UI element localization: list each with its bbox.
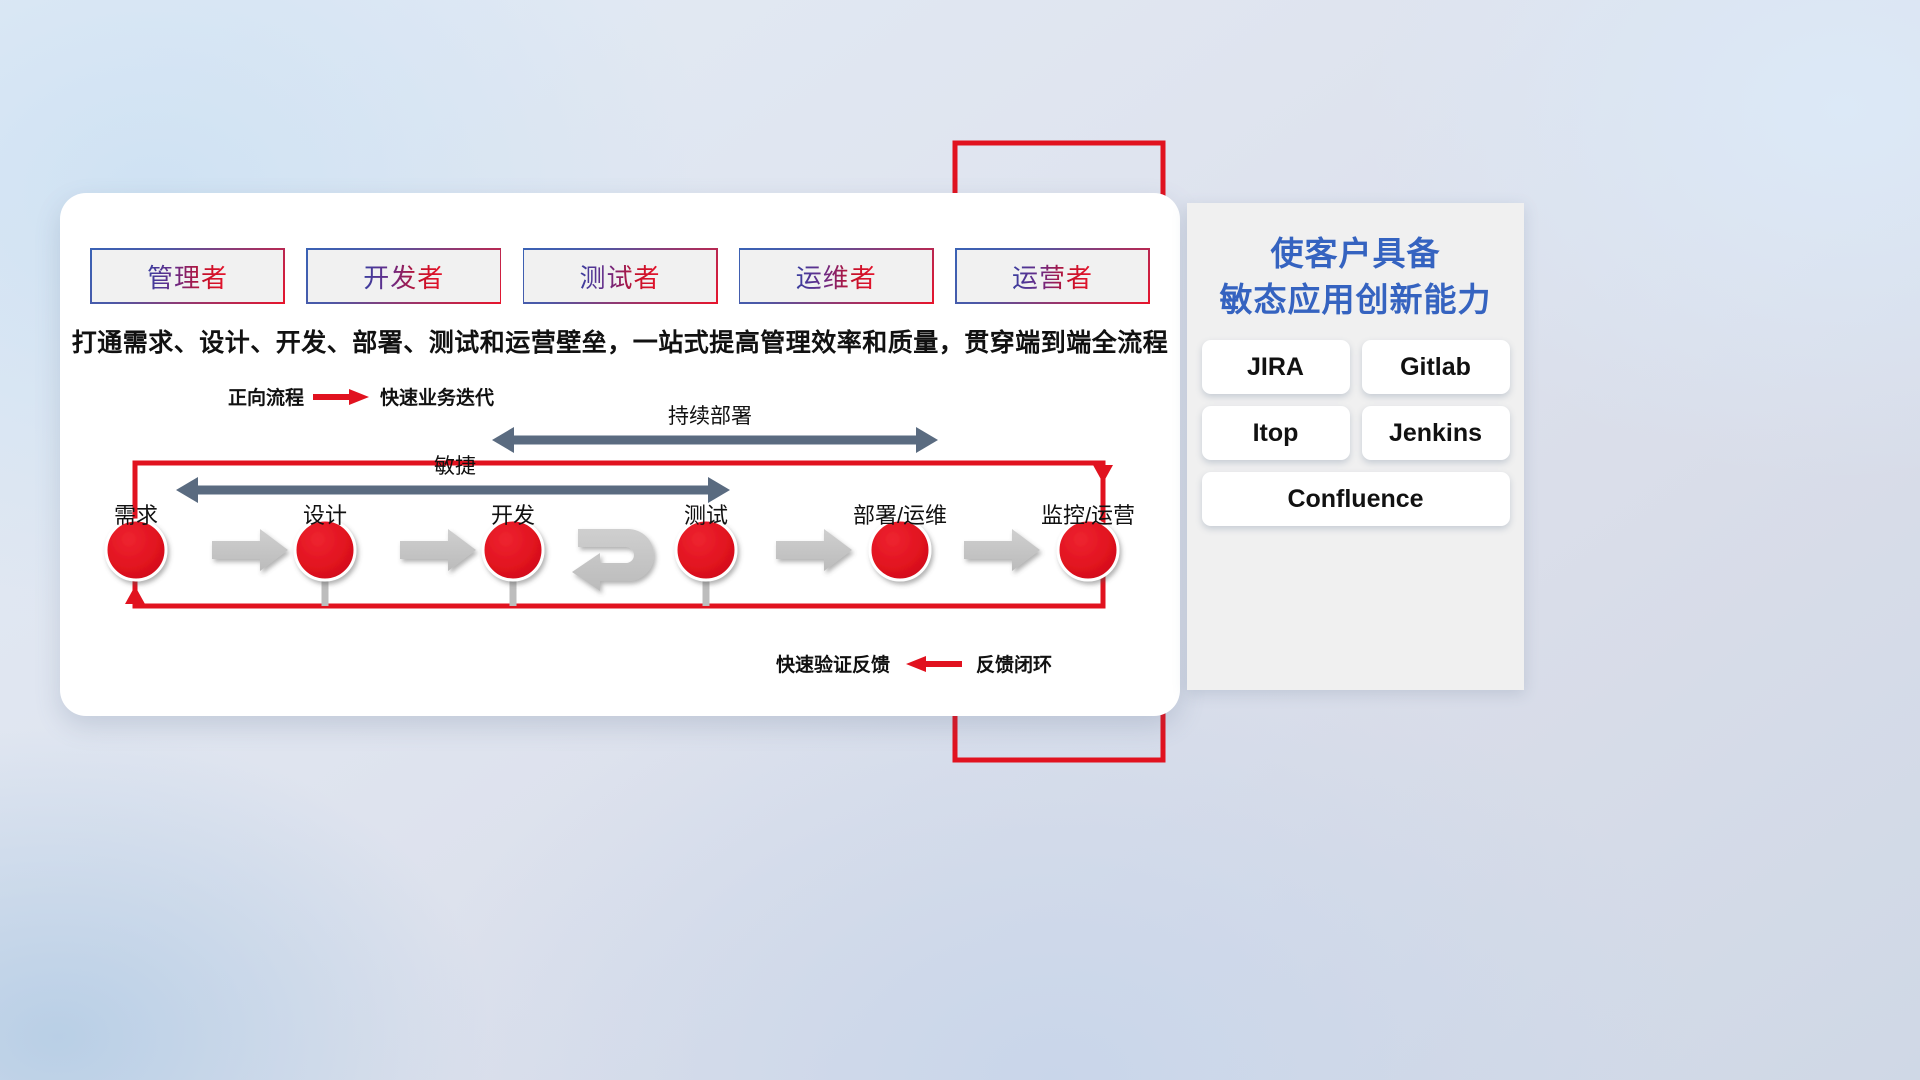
red-loop-arrowhead-up (125, 586, 145, 604)
role-label: 测试者 (579, 258, 660, 295)
slide-canvas: 管理者 开发者 测试者 运维者 运营者 打通需求、设计、开发、部署、测试和运营壁… (0, 0, 1920, 1080)
role-label: 管理者 (147, 258, 228, 295)
stage-label-requirements: 需求 (114, 498, 158, 530)
role-label: 运维者 (796, 258, 877, 295)
stage-label-testing: 测试 (684, 498, 728, 530)
role-label: 开发者 (363, 258, 444, 295)
stage-label-deploy-ops: 部署/运维 (853, 498, 947, 530)
panel-title-line1: 使客户具备 (1187, 231, 1524, 277)
stage-label-design: 设计 (303, 498, 347, 530)
stage-label-development: 开发 (491, 498, 535, 530)
main-card: 管理者 开发者 测试者 运维者 运营者 打通需求、设计、开发、部署、测试和运营壁… (60, 193, 1180, 716)
panel-title-line2: 敏态应用创新能力 (1187, 277, 1524, 323)
arrow-label-agile: 敏捷 (434, 450, 476, 480)
stage-label-monitor-operations: 监控/运营 (1041, 498, 1135, 530)
arrow-label-continuous-deployment: 持续部署 (668, 400, 752, 430)
tool-button-jenkins[interactable]: Jenkins (1362, 406, 1510, 460)
tool-list: JIRA Gitlab Itop Jenkins Confluence (1187, 322, 1524, 526)
panel-title: 使客户具备 敏态应用创新能力 (1187, 203, 1524, 322)
value-proposition-panel: 使客户具备 敏态应用创新能力 JIRA Gitlab Itop Jenkins … (1187, 203, 1524, 690)
dev-test-loop-arrow (572, 529, 654, 591)
tool-button-confluence[interactable]: Confluence (1202, 472, 1510, 526)
agile-arrow (176, 477, 730, 503)
tool-button-jira[interactable]: JIRA (1202, 340, 1350, 394)
role-label: 运营者 (1012, 258, 1093, 295)
continuous-deployment-arrow (492, 427, 938, 453)
tool-button-gitlab[interactable]: Gitlab (1362, 340, 1510, 394)
red-loop-arrowhead-down (1093, 465, 1113, 483)
tool-button-itop[interactable]: Itop (1202, 406, 1350, 460)
